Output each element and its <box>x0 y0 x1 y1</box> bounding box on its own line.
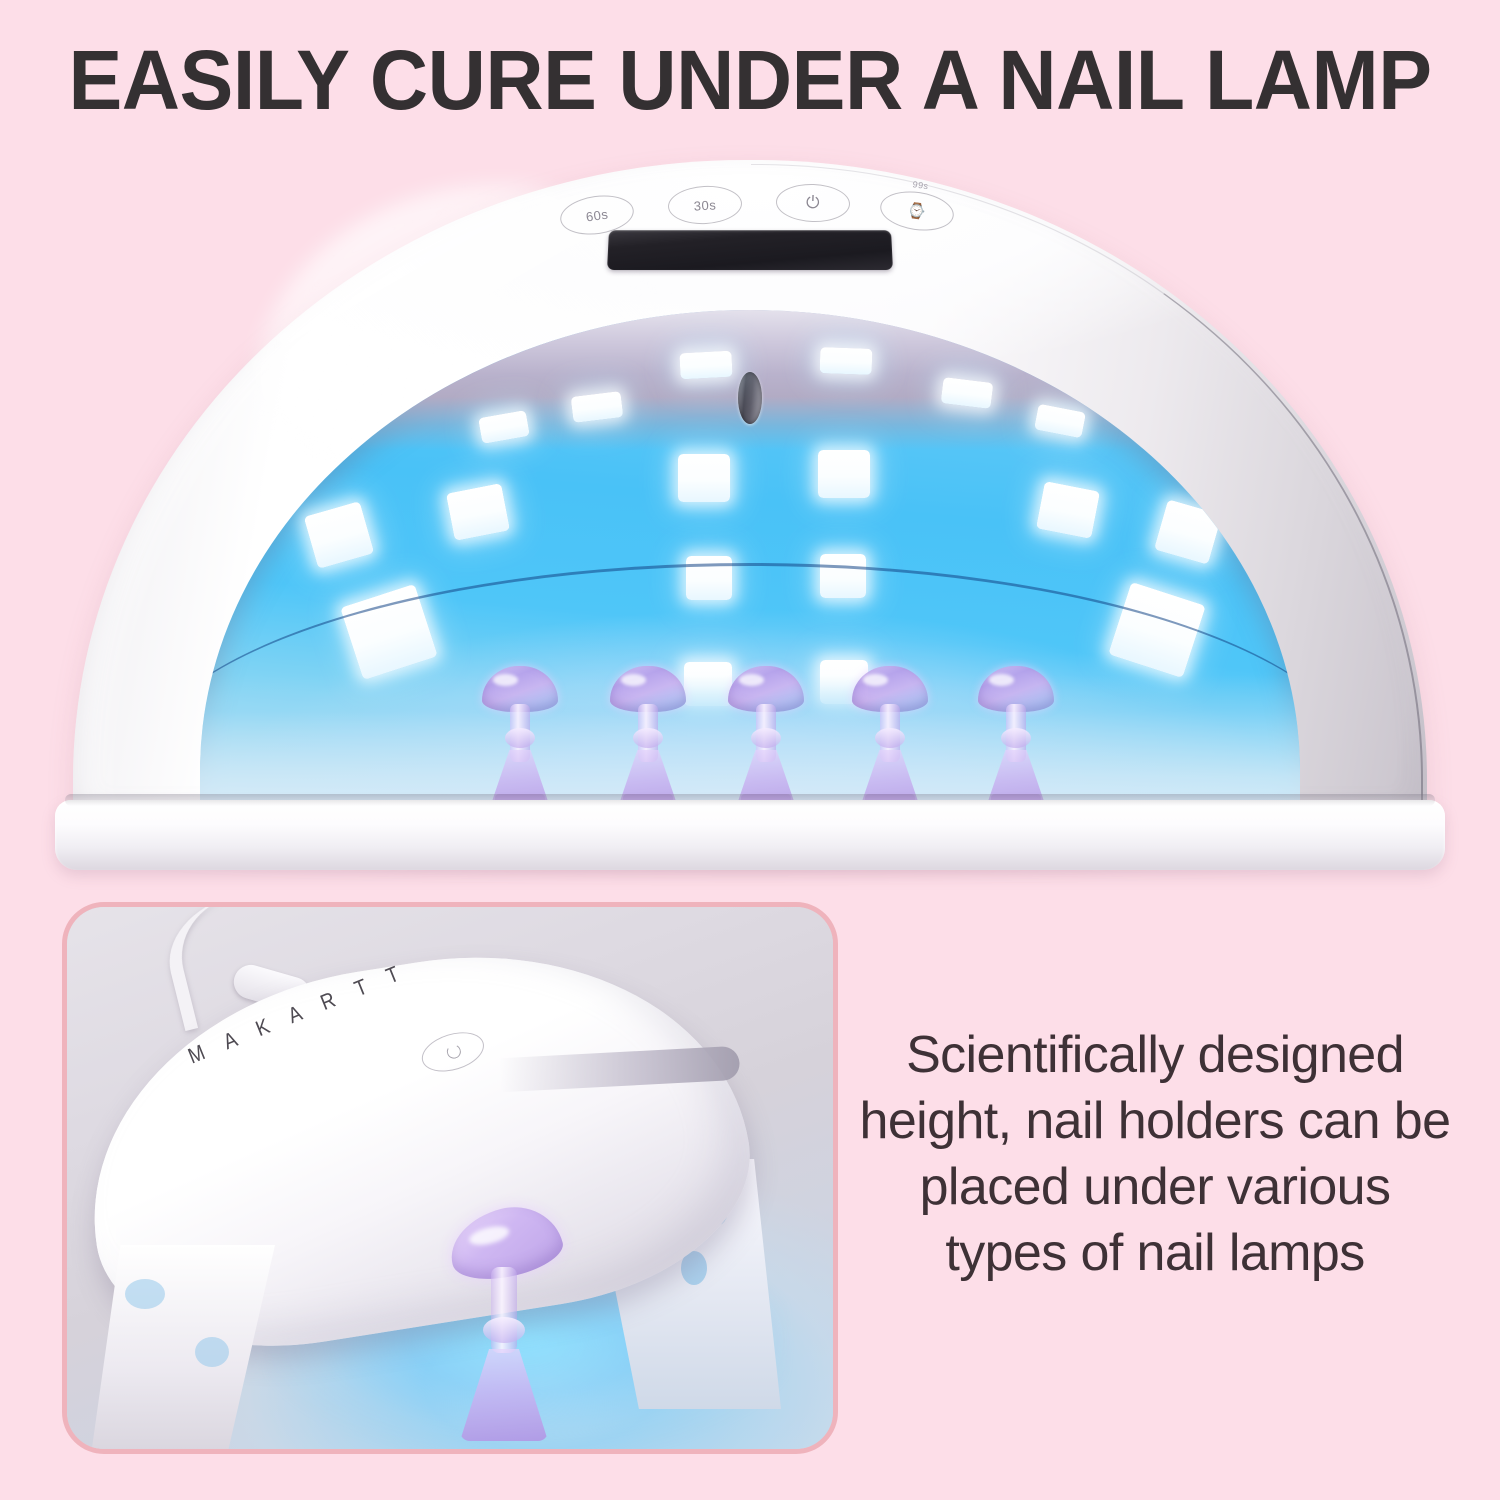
secondary-product-photo: M A K A R T T <box>62 902 838 1454</box>
lamp-base-lip <box>65 794 1435 806</box>
led-bead <box>446 483 510 541</box>
led-bead <box>678 454 730 502</box>
nail-holder-knob <box>483 1317 525 1343</box>
timer-60s-label: 60s <box>585 206 609 224</box>
nail-holder-knob <box>505 728 535 748</box>
led-bead <box>818 450 870 498</box>
power-icon: ⏻ <box>806 193 821 213</box>
clock-icon: ⌚ <box>906 201 928 221</box>
led-bead <box>679 351 732 380</box>
nail-holder-knob <box>1001 728 1031 748</box>
page-title: EASILY CURE UNDER A NAIL LAMP <box>30 34 1470 126</box>
nail-holder-knob <box>633 728 663 748</box>
motion-sensor-icon <box>738 372 762 424</box>
timer-30s-button[interactable]: 30s <box>667 184 743 226</box>
timer-auto-button[interactable]: 99s ⌚ <box>878 187 957 235</box>
led-bead <box>1036 481 1100 539</box>
nail-holder-knob <box>875 728 905 748</box>
leg-hole <box>125 1279 165 1309</box>
timer-auto-sublabel: 99s <box>884 175 957 195</box>
power-button[interactable]: ⏻ <box>775 183 850 224</box>
lamp-light-chamber <box>200 310 1300 840</box>
timer-30s-label: 30s <box>693 197 716 213</box>
nail-holder-base <box>460 1349 548 1441</box>
lcd-display <box>607 230 893 270</box>
leg-hole <box>195 1337 229 1367</box>
feature-caption: Scientifically designed height, nail hol… <box>855 1022 1455 1286</box>
led-bead <box>820 347 873 375</box>
nail-holder <box>445 1209 563 1441</box>
hero-product-image: 60s 30s ⏻ 99s ⌚ <box>55 160 1445 870</box>
led-bead <box>304 501 375 569</box>
nail-holder-knob <box>751 728 781 748</box>
lamp-base-plate <box>55 800 1445 870</box>
control-panel: 60s 30s ⏻ 99s ⌚ <box>550 178 950 274</box>
